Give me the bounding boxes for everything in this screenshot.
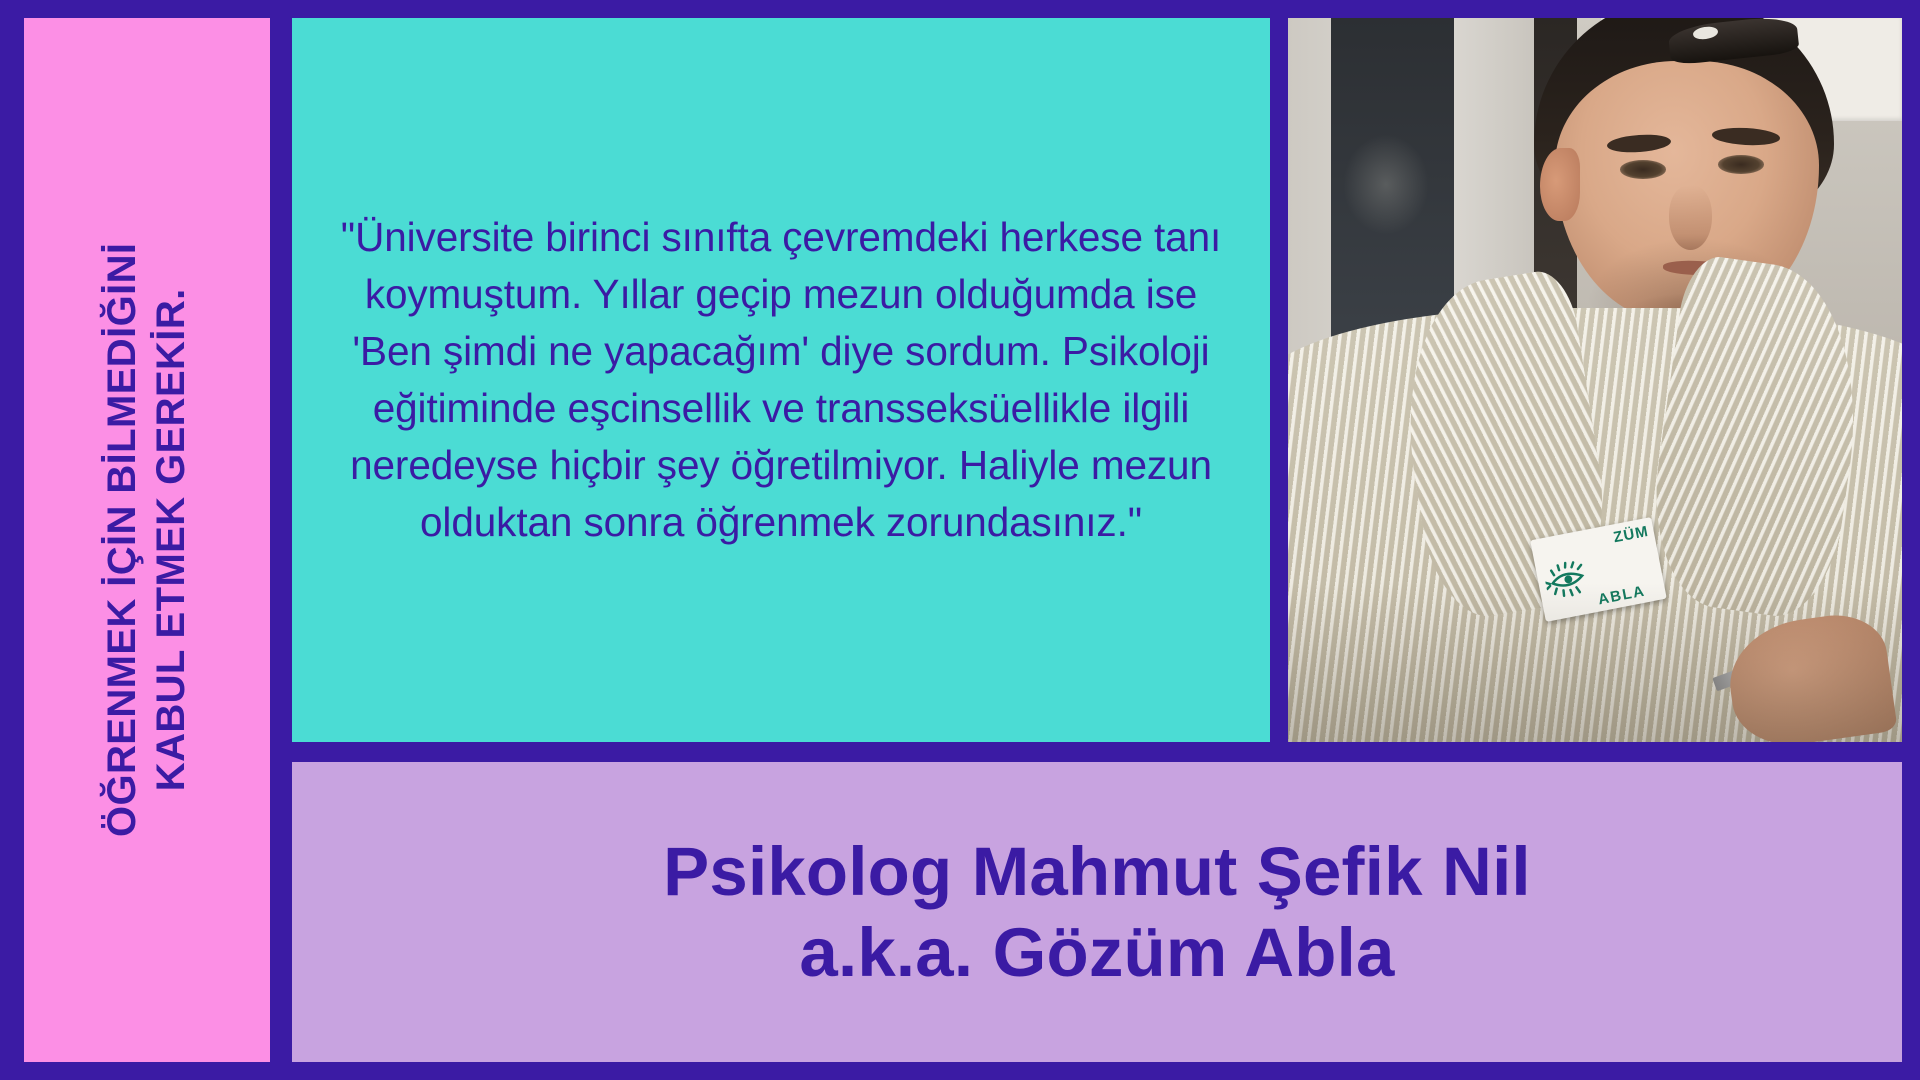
portrait-photo: harankara 21 Nisan 2002 [1288, 18, 1902, 742]
quote-panel: "Üniversite birinci sınıfta çevremdeki h… [292, 18, 1270, 742]
quote-text: "Üniversite birinci sınıfta çevremdeki h… [330, 209, 1232, 552]
photo-eye-right [1718, 155, 1764, 174]
photo-eye-left [1620, 160, 1666, 179]
photo-ear [1540, 148, 1580, 220]
photo-window-glow [1343, 134, 1429, 235]
headline-rotor: ÖĞRENMEK İÇİN BİLMEDİĞİNİ KABUL ETMEK GE… [98, 35, 196, 1045]
photo-bottom-shadow [1288, 583, 1902, 742]
quote-card: ÖĞRENMEK İÇİN BİLMEDİĞİNİ KABUL ETMEK GE… [0, 0, 1920, 1080]
name-panel: Psikolog Mahmut Şefik Nil a.k.a. Gözüm A… [292, 762, 1902, 1062]
headline-panel: ÖĞRENMEK İÇİN BİLMEDİĞİNİ KABUL ETMEK GE… [24, 18, 270, 1062]
headline-text: ÖĞRENMEK İÇİN BİLMEDİĞİNİ KABUL ETMEK GE… [98, 35, 196, 1045]
person-name: Psikolog Mahmut Şefik Nil a.k.a. Gözüm A… [663, 831, 1531, 994]
badge-word-top: ZÜM [1612, 523, 1650, 546]
